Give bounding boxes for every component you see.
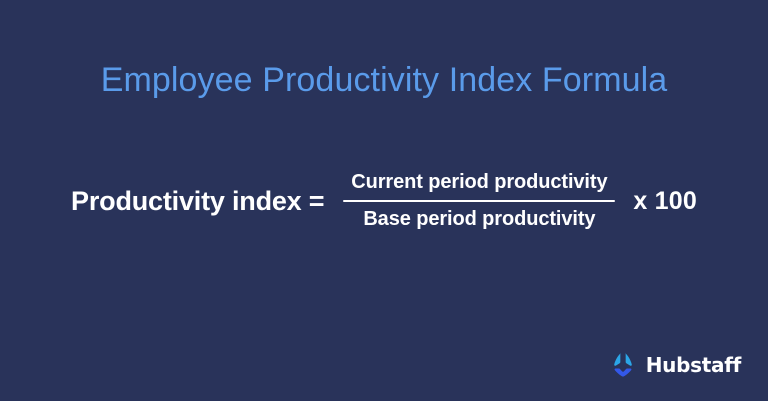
hubstaff-logo: Hubstaff [609, 351, 741, 379]
formula-block: Productivity index = Current period prod… [0, 170, 768, 232]
formula-multiplier: x 100 [615, 189, 697, 214]
fraction-denominator: Base period productivity [357, 207, 601, 232]
fraction-bar [343, 200, 615, 202]
page-title: Employee Productivity Index Formula [0, 58, 768, 102]
formula-left-expression: Productivity index = [71, 188, 343, 215]
formula-fraction: Current period productivity Base period … [343, 170, 615, 232]
hubstaff-logo-mark-icon [609, 351, 637, 379]
slide-canvas: Employee Productivity Index Formula Prod… [0, 0, 768, 401]
fraction-numerator: Current period productivity [345, 170, 613, 195]
hubstaff-wordmark: Hubstaff [646, 355, 741, 375]
